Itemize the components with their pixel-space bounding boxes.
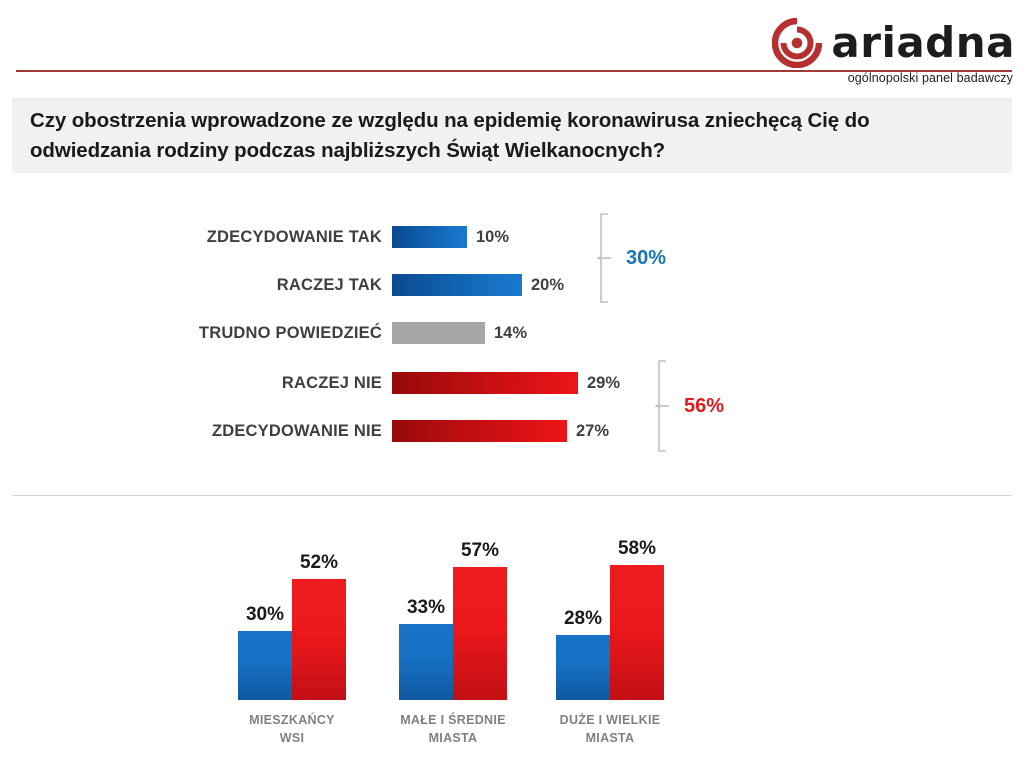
hbar-label-3: RACZEJ NIE	[0, 374, 392, 393]
hbar-track-3: 29%	[392, 372, 620, 394]
hbar-track-1: 20%	[392, 274, 564, 296]
hbar-track-0: 10%	[392, 226, 509, 248]
hbar-fill-4	[392, 420, 567, 442]
hbar-label-0: ZDECYDOWANIE TAK	[0, 228, 392, 247]
brand-tagline: ogólnopolski panel badawczy	[848, 71, 1013, 85]
bracket-value-no: 56%	[684, 395, 724, 418]
col-caption-2-line-0: DUŻE I WIELKIE	[510, 711, 710, 729]
hbar-fill-0	[392, 226, 467, 248]
col-value-0-yes: 30%	[246, 604, 284, 626]
col-bar-2-no: 58%	[610, 565, 664, 700]
col-bar-1-yes: 33%	[399, 624, 453, 700]
horizontal-bar-chart: ZDECYDOWANIE TAK 10% RACZEJ TAK 20% TRUD…	[0, 205, 1029, 470]
slide-root: ariadna ogólnopolski panel badawczy Czy …	[0, 0, 1029, 767]
col-fill-2-yes	[556, 635, 610, 700]
hbar-value-0: 10%	[476, 228, 509, 247]
bracket-annotation-no: 56%	[655, 360, 724, 452]
hbar-fill-3	[392, 372, 578, 394]
col-group-2: 28% 58% DUŻE I WIELKIE MIASTA	[510, 520, 710, 747]
col-value-0-no: 52%	[300, 552, 338, 574]
col-bar-1-no: 57%	[453, 567, 507, 700]
col-plot-2: 28% 58%	[510, 520, 710, 700]
bracket-annotation-yes: 30%	[597, 213, 666, 303]
col-bar-0-yes: 30%	[238, 631, 292, 700]
brand-name: ariadna	[831, 22, 1015, 64]
col-fill-0-yes	[238, 631, 292, 700]
hbar-label-1: RACZEJ TAK	[0, 276, 392, 295]
col-caption-2-line-1: MIASTA	[510, 729, 710, 747]
question-banner: Czy obostrzenia wprowadzone ze względu n…	[12, 98, 1012, 173]
column-chart: 30% 52% MIESZKAŃCY WSI 33% 5	[0, 520, 1029, 767]
col-fill-2-no	[610, 565, 664, 700]
col-value-2-no: 58%	[618, 538, 656, 560]
col-bar-2-yes: 28%	[556, 635, 610, 700]
hbar-label-2: TRUDNO POWIEDZIEĆ	[0, 324, 392, 343]
hbar-track-2: 14%	[392, 322, 527, 344]
hbar-value-3: 29%	[587, 374, 620, 393]
hbar-value-4: 27%	[576, 422, 609, 441]
hbar-value-1: 20%	[531, 276, 564, 295]
hbar-value-2: 14%	[494, 324, 527, 343]
col-value-1-no: 57%	[461, 540, 499, 562]
hbar-track-4: 27%	[392, 420, 609, 442]
hbar-row-1: RACZEJ TAK 20%	[0, 268, 800, 302]
col-value-2-yes: 28%	[564, 608, 602, 630]
hbar-row-0: ZDECYDOWANIE TAK 10%	[0, 220, 800, 254]
hbar-row-2: TRUDNO POWIEDZIEĆ 14%	[0, 316, 800, 350]
col-bar-0-no: 52%	[292, 579, 346, 700]
question-text: Czy obostrzenia wprowadzone ze względu n…	[30, 106, 994, 164]
col-caption-2: DUŻE I WIELKIE MIASTA	[510, 711, 710, 747]
logo-row: ariadna	[772, 18, 1015, 68]
section-divider	[12, 495, 1012, 496]
bracket-value-yes: 30%	[626, 247, 666, 270]
col-value-1-yes: 33%	[407, 597, 445, 619]
bracket-icon-no	[655, 360, 677, 452]
hbar-fill-1	[392, 274, 522, 296]
brand-logo: ariadna ogólnopolski panel badawczy	[772, 18, 1015, 85]
col-fill-1-yes	[399, 624, 453, 700]
hbar-label-4: ZDECYDOWANIE NIE	[0, 422, 392, 441]
col-fill-1-no	[453, 567, 507, 700]
bracket-icon-yes	[597, 213, 619, 303]
ariadna-spiral-icon	[772, 18, 822, 68]
col-fill-0-no	[292, 579, 346, 700]
header-divider	[16, 70, 1012, 72]
hbar-fill-2	[392, 322, 485, 344]
